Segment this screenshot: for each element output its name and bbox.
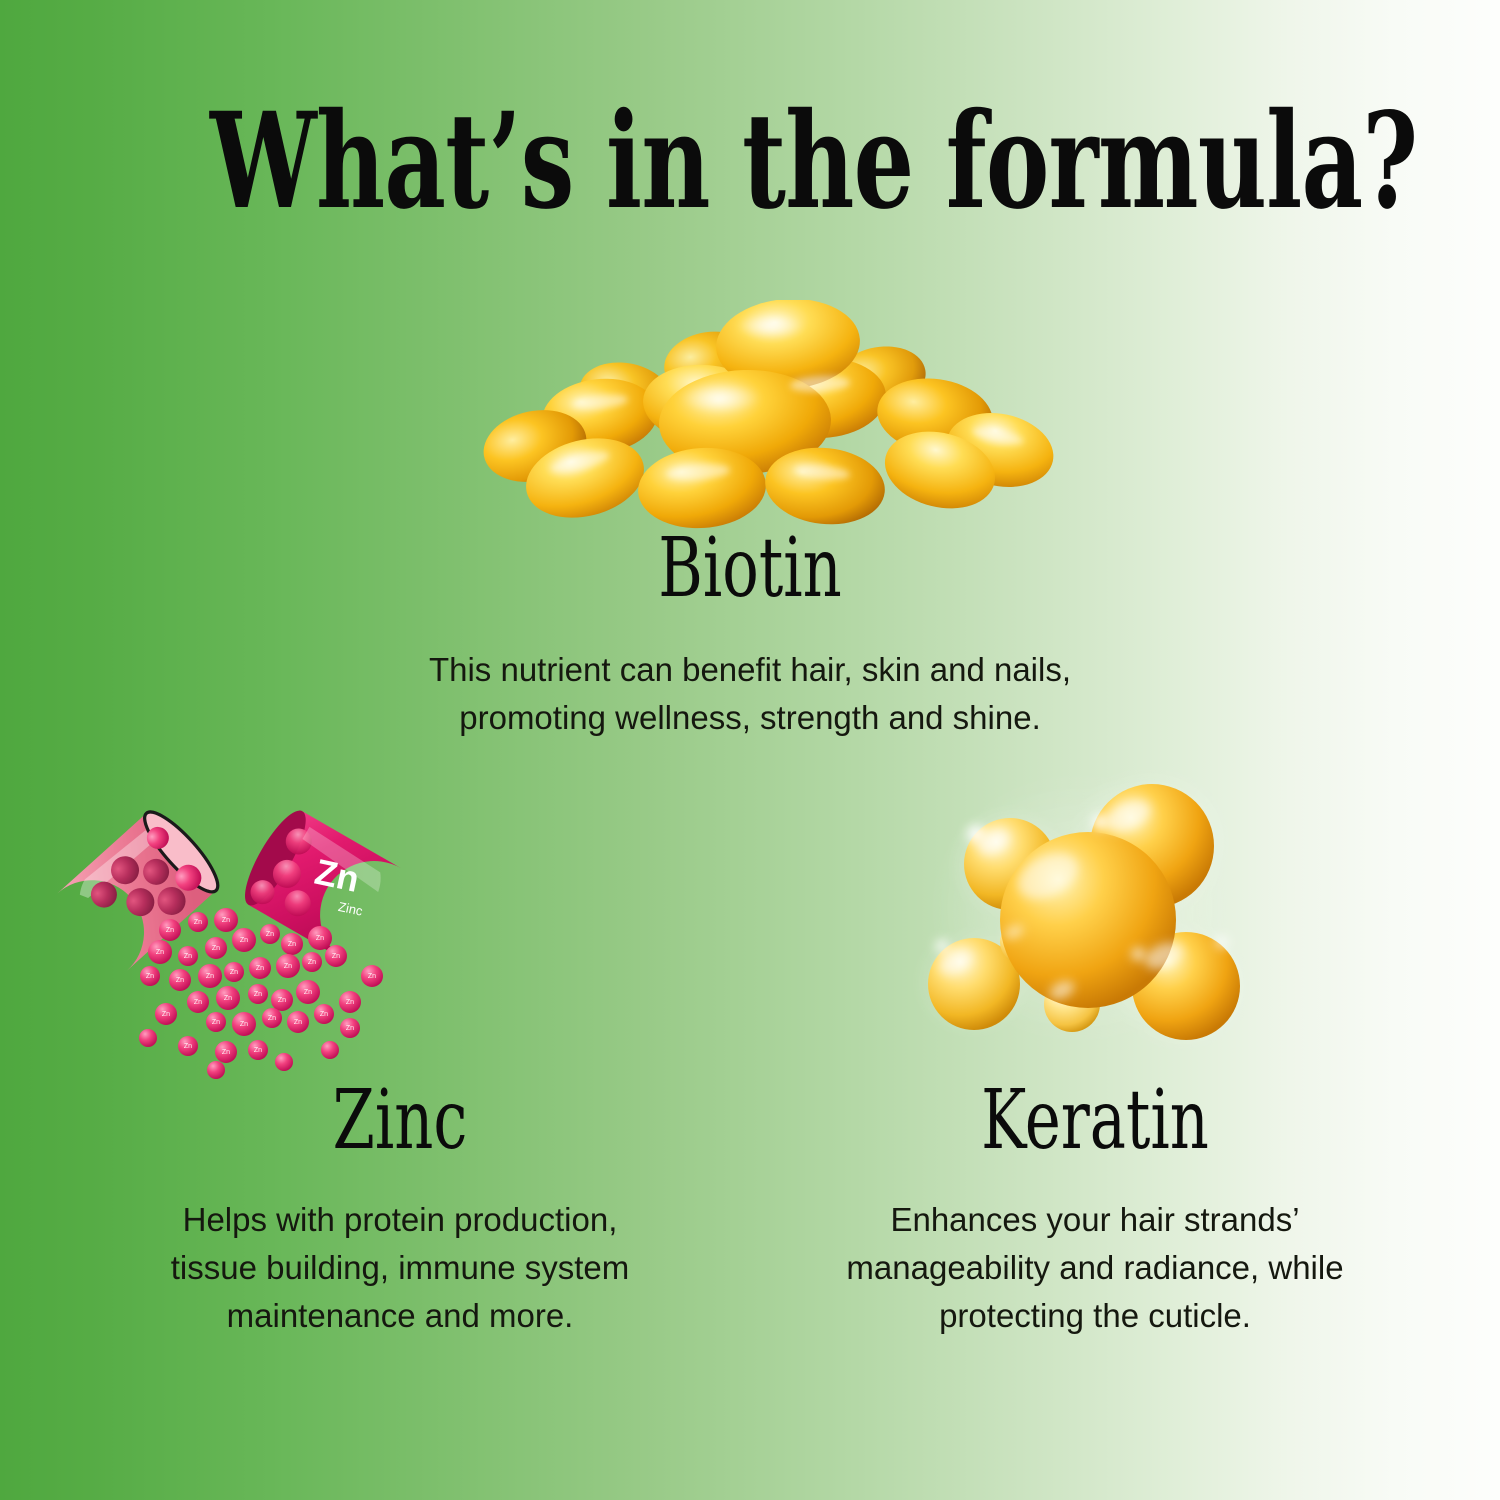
poster-canvas: What’s in the formula?	[0, 0, 1500, 1500]
zinc-bead-symbol: Zn	[266, 931, 274, 938]
ingredient-description-keratin: Enhances your hair strands’ manageabilit…	[730, 1196, 1460, 1340]
ingredient-name-biotin: Biotin	[380, 528, 1120, 610]
ingredient-name-keratin: Keratin	[825, 1080, 1365, 1162]
zinc-bead-symbol: Zn	[288, 941, 296, 948]
zinc-bead-symbol: Zn	[222, 1049, 230, 1056]
ingredient-card-biotin: Biotin This nutrient can benefit hair, s…	[250, 300, 1250, 742]
zinc-bead-symbol: Zn	[268, 1015, 276, 1022]
zinc-bead-symbol: Zn	[212, 945, 220, 952]
zinc-bead-symbol: Zn	[320, 1011, 328, 1018]
zinc-bead-symbol: Zn	[166, 927, 174, 934]
zinc-bead-symbol: Zn	[254, 1047, 262, 1054]
zinc-bead-symbol: Zn	[184, 953, 192, 960]
zinc-bead-symbol: Zn	[256, 965, 264, 972]
zinc-bead-symbol: Zn	[156, 949, 164, 956]
ingredient-card-zinc: Zn Zinc ZnZnZnZnZnZnZnZnZnZnZnZnZnZnZnZn…	[20, 770, 780, 1340]
zinc-bead-symbol: Zn	[332, 953, 340, 960]
zinc-bead-symbol: Zn	[278, 997, 286, 1004]
zinc-bead-symbol: Zn	[176, 977, 184, 984]
ingredient-card-keratin: Keratin Enhances your hair strands’ mana…	[730, 770, 1460, 1340]
zinc-bead-symbol: Zn	[162, 1011, 170, 1018]
zinc-bead-symbol: Zn	[206, 973, 214, 980]
zinc-bead	[321, 1041, 339, 1059]
zinc-bead-symbol: Zn	[294, 1019, 302, 1026]
zinc-bead-symbol: Zn	[194, 999, 202, 1006]
zinc-bead-symbol: Zn	[308, 959, 316, 966]
zinc-bead-symbol: Zn	[368, 973, 376, 980]
zinc-capsule-illustration: Zn Zinc ZnZnZnZnZnZnZnZnZnZnZnZnZnZnZnZn…	[20, 770, 780, 1090]
zinc-bead	[207, 1061, 225, 1079]
zinc-bead-symbol: Zn	[316, 935, 324, 942]
zinc-bead-symbol: Zn	[146, 973, 154, 980]
ingredient-description-zinc: Helps with protein production, tissue bu…	[20, 1196, 780, 1340]
capsule-name-label: Zinc	[337, 899, 365, 919]
zinc-bead-symbol: Zn	[284, 963, 292, 970]
zinc-bead-symbol: Zn	[230, 969, 238, 976]
zinc-bead-symbol: Zn	[224, 995, 232, 1002]
zinc-bead-symbol: Zn	[222, 917, 230, 924]
spilled-zinc-beads: ZnZnZnZnZnZnZnZnZnZnZnZnZnZnZnZnZnZnZnZn…	[139, 908, 383, 1079]
zinc-bead-symbol: Zn	[184, 1043, 192, 1050]
zinc-bead-symbol: Zn	[346, 999, 354, 1006]
molecule-sphere-center	[1000, 832, 1176, 1008]
zinc-bead	[139, 1029, 157, 1047]
zinc-bead-symbol: Zn	[304, 989, 312, 996]
page-title: What’s in the formula?	[210, 96, 1290, 228]
zinc-bead	[275, 1053, 293, 1071]
zinc-bead-symbol: Zn	[194, 919, 202, 926]
ingredient-description-biotin: This nutrient can benefit hair, skin and…	[250, 646, 1250, 742]
keratin-molecule-illustration	[730, 770, 1460, 1090]
zinc-bead-symbol: Zn	[240, 1021, 248, 1028]
zinc-bead-symbol: Zn	[240, 937, 248, 944]
softgel-capsules-illustration	[250, 300, 1250, 530]
zinc-bead-symbol: Zn	[346, 1025, 354, 1032]
ingredient-name-zinc: Zinc	[119, 1080, 681, 1162]
zinc-bead-symbol: Zn	[254, 991, 262, 998]
zinc-bead-symbol: Zn	[212, 1019, 220, 1026]
